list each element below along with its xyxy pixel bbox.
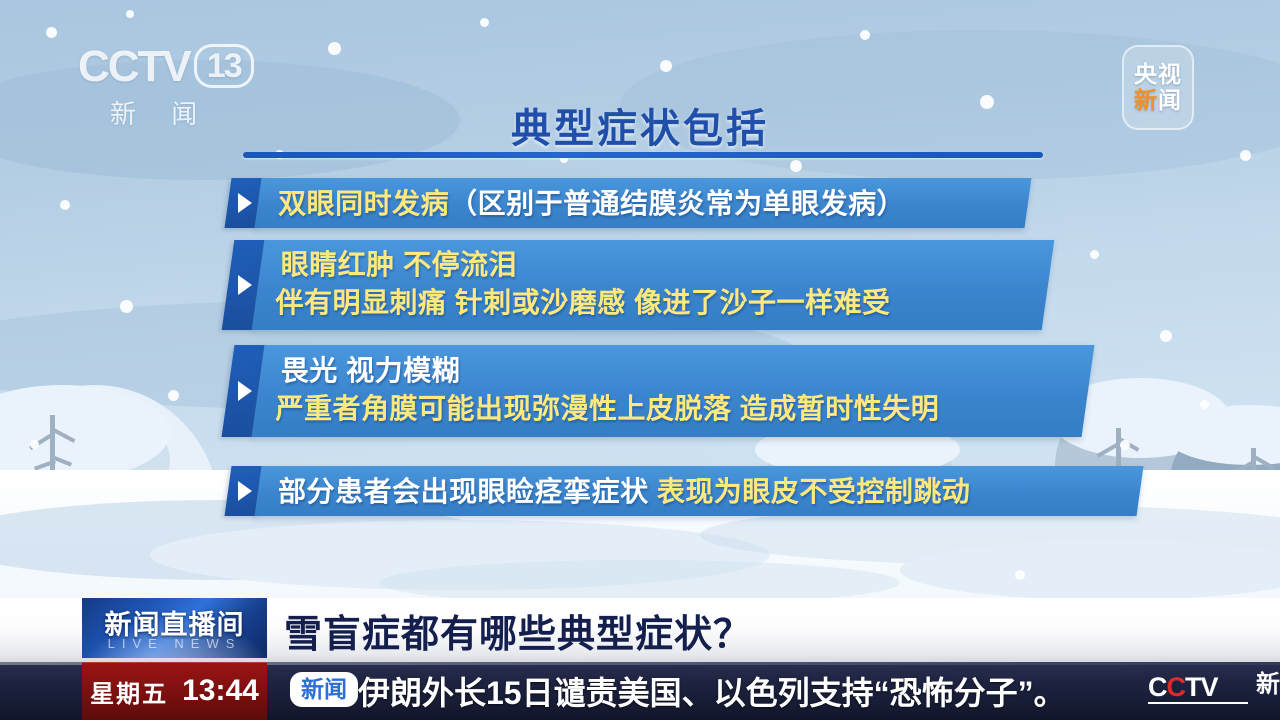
- snowflake: [120, 300, 133, 313]
- bar-body: 畏光 视力模糊 严重者角膜可能出现弥漫性上皮脱落 造成暂时性失明: [252, 345, 1095, 437]
- channel-number: 13: [194, 44, 254, 88]
- bar-line: 畏光 视力模糊: [281, 352, 1069, 390]
- snowflake: [660, 60, 672, 72]
- symptom-bar-3: 畏光 视力模糊 严重者角膜可能出现弥漫性上皮脱落 造成暂时性失明: [228, 345, 1088, 437]
- bar-line: 眼睛红肿 不停流泪: [281, 246, 1029, 284]
- cctv-letter-1: C: [1148, 672, 1167, 702]
- bar-line: 严重者角膜可能出现弥漫性上皮脱落 造成暂时性失明: [275, 390, 1063, 428]
- snowflake: [790, 160, 802, 172]
- bar-text-yellow: 表现为眼皮不受控制跳动: [657, 476, 971, 507]
- snowflake: [46, 27, 57, 38]
- snowflake: [1090, 250, 1099, 259]
- page-title: 典型症状包括: [0, 96, 1280, 154]
- snowflake: [90, 478, 100, 488]
- ticker-headline: 伊朗外长15日谴责美国、以色列支持“恐怖分子”。: [358, 668, 1066, 714]
- cctv-wordmark: CCTV: [78, 42, 190, 91]
- bar-text-white: 部分患者会出现眼睑痉挛症状: [278, 476, 657, 507]
- bar-text-yellow: 眼睛红肿 不停流泪: [281, 249, 517, 280]
- snowflake: [126, 10, 134, 18]
- snowflake: [30, 440, 39, 449]
- program-logo: 新闻直播间 LIVE NEWS: [82, 598, 267, 658]
- triangle-right-icon: [238, 275, 252, 295]
- snowflake: [480, 18, 489, 27]
- triangle-right-icon: [238, 193, 252, 213]
- weekday-label: 星期五: [90, 674, 168, 709]
- bar-body: 部分患者会出现眼睑痉挛症状 表现为眼皮不受控制跳动: [254, 466, 1143, 516]
- bar-line: 部分患者会出现眼睑痉挛症状 表现为眼皮不受控制跳动: [278, 470, 1118, 510]
- symptom-bar-1: 双眼同时发病（区别于普通结膜炎常为单眼发病）: [228, 178, 1028, 228]
- clock-box: 星期五 13:44: [82, 662, 267, 720]
- title-divider: [243, 152, 1043, 158]
- broadcast-screen: CCTV13 新 闻 央视 新闻 典型症状包括 双眼同时发病（区别于普通结膜炎常…: [0, 0, 1280, 720]
- bar-line: 双眼同时发病（区别于普通结膜炎常为单眼发病）: [278, 182, 1006, 222]
- cctv-tail-char: 新: [1256, 670, 1279, 700]
- cctv-letter-2: C: [1167, 672, 1186, 702]
- bar-text-yellow: 双眼同时发病: [278, 188, 449, 219]
- bar-text-yellow: 伴有明显刺痛 针刺或沙磨感 像进了沙子一样难受: [275, 287, 890, 318]
- headline-text: 雪盲症都有哪些典型症状？: [284, 601, 752, 659]
- time-label: 13:44: [182, 674, 259, 708]
- snowflake: [60, 200, 70, 210]
- snowflake: [1160, 330, 1172, 342]
- triangle-right-icon: [238, 381, 252, 401]
- snowflake: [1200, 400, 1209, 409]
- snowflake: [1120, 440, 1130, 450]
- cctv-underline: [1148, 702, 1248, 704]
- bar-text-yellow: 严重者角膜可能出现弥漫性上皮脱落 造成暂时性失明: [275, 393, 939, 424]
- snowflake: [860, 30, 870, 40]
- snowflake: [168, 390, 179, 401]
- symptom-bar-4: 部分患者会出现眼睑痉挛症状 表现为眼皮不受控制跳动: [228, 466, 1140, 516]
- logo-line-1: 央视: [1134, 63, 1182, 86]
- news-badge: 新闻: [290, 672, 358, 707]
- bar-text-white: 畏光 视力模糊: [281, 355, 460, 386]
- symptom-bar-2: 眼睛红肿 不停流泪 伴有明显刺痛 针刺或沙磨感 像进了沙子一样难受: [228, 240, 1048, 330]
- snowflake: [1015, 570, 1025, 580]
- cctv-ticker-logo: CCTV 新: [1148, 672, 1218, 702]
- program-name-en: LIVE NEWS: [108, 636, 242, 651]
- bar-text-white: （区别于普通结膜炎常为单眼发病）: [449, 188, 905, 219]
- bar-body: 眼睛红肿 不停流泪 伴有明显刺痛 针刺或沙磨感 像进了沙子一样难受: [252, 240, 1055, 330]
- cctv-letters-tv: TV: [1185, 672, 1218, 702]
- snowflake: [328, 42, 341, 55]
- bar-body: 双眼同时发病（区别于普通结膜炎常为单眼发病）: [254, 178, 1031, 228]
- triangle-right-icon: [238, 481, 252, 501]
- bar-line: 伴有明显刺痛 针刺或沙磨感 像进了沙子一样难受: [275, 284, 1023, 322]
